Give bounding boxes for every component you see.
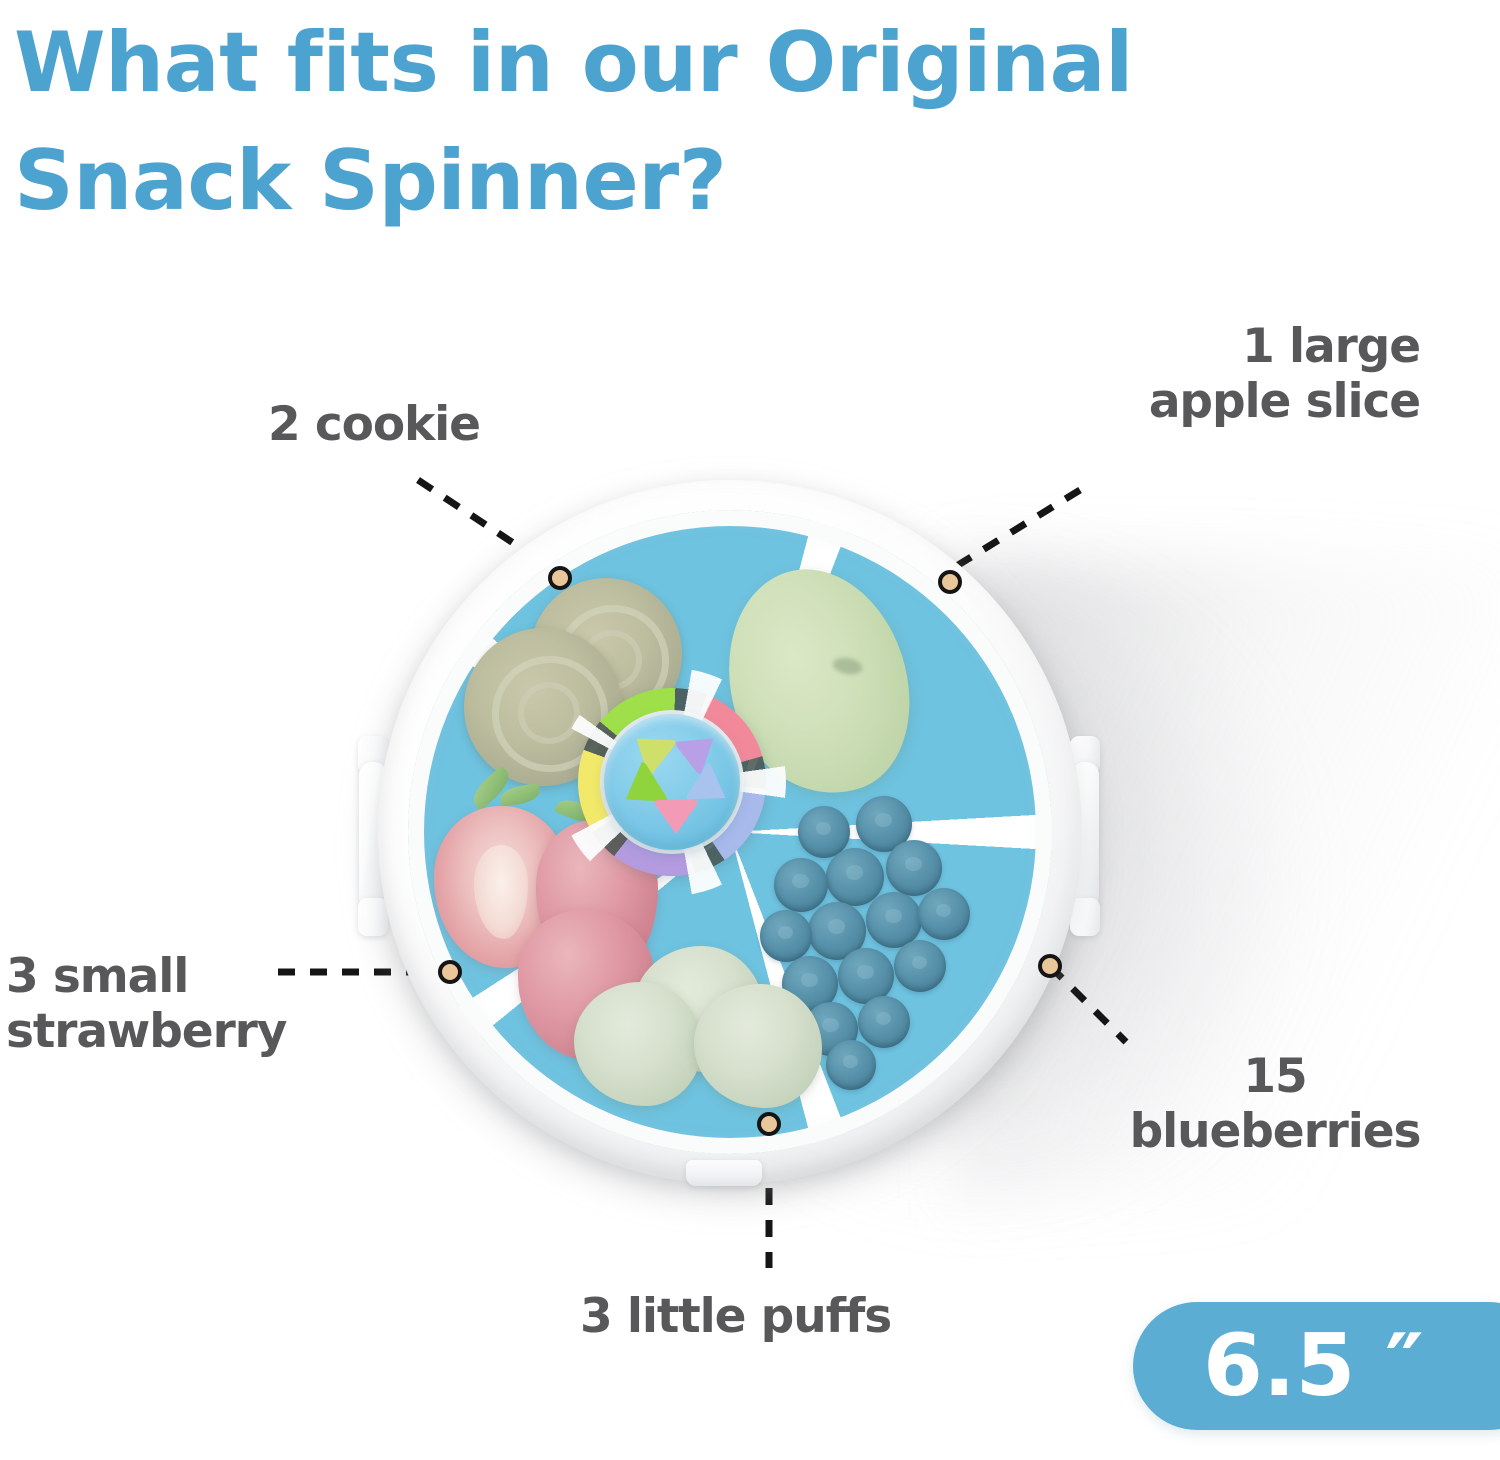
snack-spinner-product	[350, 460, 1110, 1220]
hinge-cap-bottom	[358, 898, 388, 936]
callout-label-blueberry: 15 blueberries	[1080, 1050, 1470, 1159]
lid-latch-tab[interactable]	[686, 1160, 762, 1186]
callout-dot-cookie	[548, 566, 572, 590]
callout-dot-apple	[938, 570, 962, 594]
knob-triangle-pink	[652, 800, 700, 834]
callout-dot-blueberry	[1038, 954, 1062, 978]
callout-dot-puffs	[757, 1112, 781, 1136]
spinner-knob[interactable]	[604, 714, 740, 850]
callout-label-strawberry: 3 small strawberry	[6, 950, 286, 1059]
size-badge-value: 6.5 ″	[1203, 1323, 1424, 1409]
callout-label-apple: 1 large apple slice	[1050, 320, 1420, 429]
callout-label-puffs: 3 little puffs	[580, 1290, 891, 1345]
infographic-canvas: What fits in our Original Snack Spinner?…	[0, 0, 1500, 1460]
page-title: What fits in our Original Snack Spinner?	[14, 4, 1484, 240]
size-badge: 6.5 ″	[1133, 1302, 1500, 1430]
callout-label-cookie: 2 cookie	[268, 398, 480, 453]
callout-dot-strawberry	[438, 960, 462, 984]
